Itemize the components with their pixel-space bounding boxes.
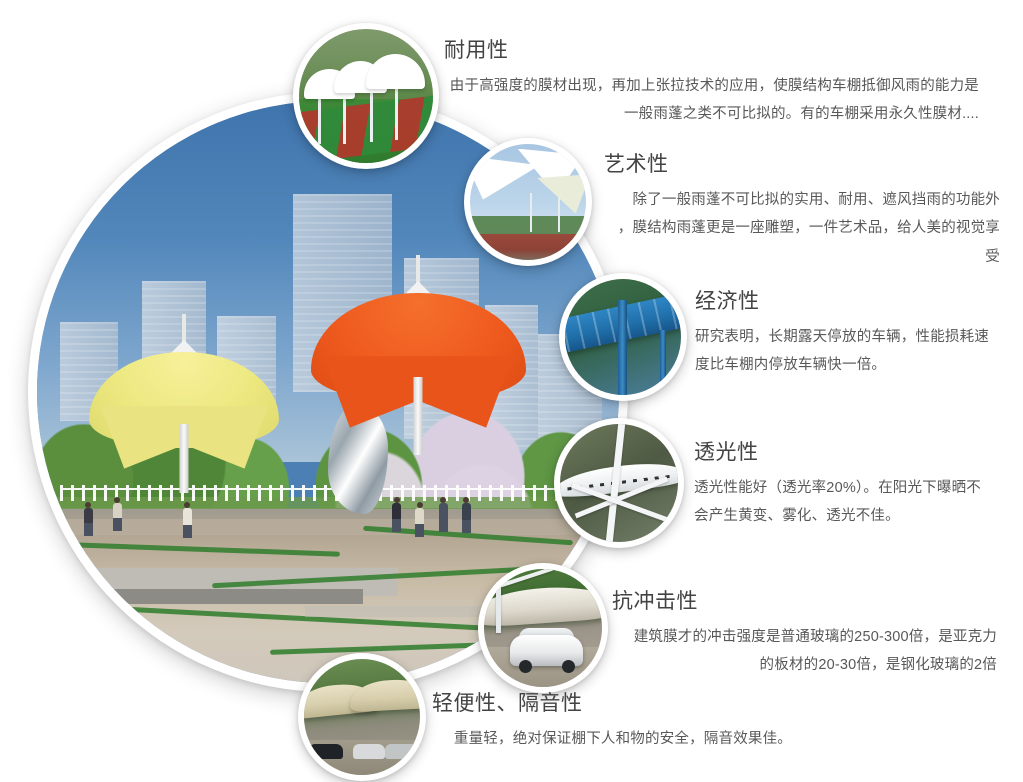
pedestrian — [415, 508, 424, 525]
feature-thumbnail-impact-resistance[interactable] — [478, 563, 608, 693]
feature-description-line: 建筑膜才的冲击强度是普通玻璃的250-300倍，是亚克力 — [612, 623, 997, 651]
feature-description-line: 度比车棚内停放车辆快一倍。 — [695, 351, 995, 379]
pedestrian — [392, 503, 401, 520]
feature-title: 经济性 — [695, 289, 995, 314]
feature-text-lightweight-soundproof: 轻便性、隔音性 重量轻，绝对保证棚下人和物的安全，隔音效果佳。 — [432, 691, 792, 753]
pedestrian — [462, 503, 471, 521]
feature-thumbnail-lightweight-soundproof[interactable] — [298, 653, 426, 781]
feature-thumbnail-light-transmission[interactable] — [554, 418, 684, 548]
thumb-photo-sports-field-canopy — [299, 29, 433, 163]
feature-description-line: ，膜结构雨蓬更是一座雕塑，一件艺术品，给人美的视觉享受 — [604, 214, 1000, 271]
feature-thumbnail-durability[interactable] — [293, 23, 439, 169]
feature-text-durability: 耐用性 由于高强度的膜材出现，再加上张拉技术的应用，使膜结构车棚抵御风雨的能力是… — [444, 38, 979, 129]
thumb-photo-membrane-frame-detail — [560, 424, 678, 542]
feature-thumbnail-artistry[interactable] — [464, 138, 592, 266]
feature-thumbnail-economy[interactable] — [559, 273, 687, 401]
thumb-photo-car-under-carport — [484, 569, 602, 687]
feature-description-line: 会产生黄变、雾化、透光不佳。 — [694, 502, 994, 530]
feature-text-artistry: 艺术性 除了一般雨蓬不可比拟的实用、耐用、遮风挡雨的功能外 ，膜结构雨蓬更是一座… — [604, 152, 1000, 271]
feature-title: 轻便性、隔音性 — [432, 691, 792, 716]
feature-text-light-transmission: 透光性 透光性能好（透光率20%）。在阳光下曝晒不 会产生黄变、雾化、透光不佳。 — [694, 440, 994, 531]
feature-text-impact-resistance: 抗冲击性 建筑膜才的冲击强度是普通玻璃的250-300倍，是亚克力 的板材的20… — [612, 589, 997, 680]
thumb-photo-blue-steel-carport — [565, 279, 681, 395]
feature-title: 透光性 — [694, 440, 994, 465]
feature-text-economy: 经济性 研究表明，长期露天停放的车辆，性能损耗速 度比车棚内停放车辆快一倍。 — [695, 289, 995, 380]
feature-title: 艺术性 — [604, 152, 1000, 177]
feature-description-line: 研究表明，长期露天停放的车辆，性能损耗速 — [695, 323, 995, 351]
orange-membrane-canopy — [311, 281, 526, 451]
pedestrian — [84, 508, 93, 524]
feature-description-line: 的板材的20-30倍，是钢化玻璃的2倍 — [612, 651, 997, 679]
feature-description-line: 重量轻，绝对保证棚下人和物的安全，隔音效果佳。 — [432, 725, 792, 753]
thumb-photo-white-sails — [470, 144, 586, 260]
feature-description-line: 由于高强度的膜材出现，再加上张拉技术的应用，使膜结构车棚抵御风雨的能力是 — [444, 72, 979, 100]
thumb-photo-beige-carports — [304, 659, 420, 775]
feature-description-line: 一般雨蓬之类不可比拟的。有的车棚采用永久性膜材.... — [444, 100, 979, 128]
feature-description-line: 除了一般雨蓬不可比拟的实用、耐用、遮风挡雨的功能外 — [604, 186, 1000, 214]
feature-title: 耐用性 — [444, 38, 979, 63]
yellow-membrane-canopy — [89, 340, 279, 490]
pedestrian — [183, 508, 192, 526]
pedestrian — [439, 503, 448, 520]
pedestrian — [113, 503, 122, 519]
feature-title: 抗冲击性 — [612, 589, 997, 614]
feature-description-line: 透光性能好（透光率20%）。在阳光下曝晒不 — [694, 474, 994, 502]
